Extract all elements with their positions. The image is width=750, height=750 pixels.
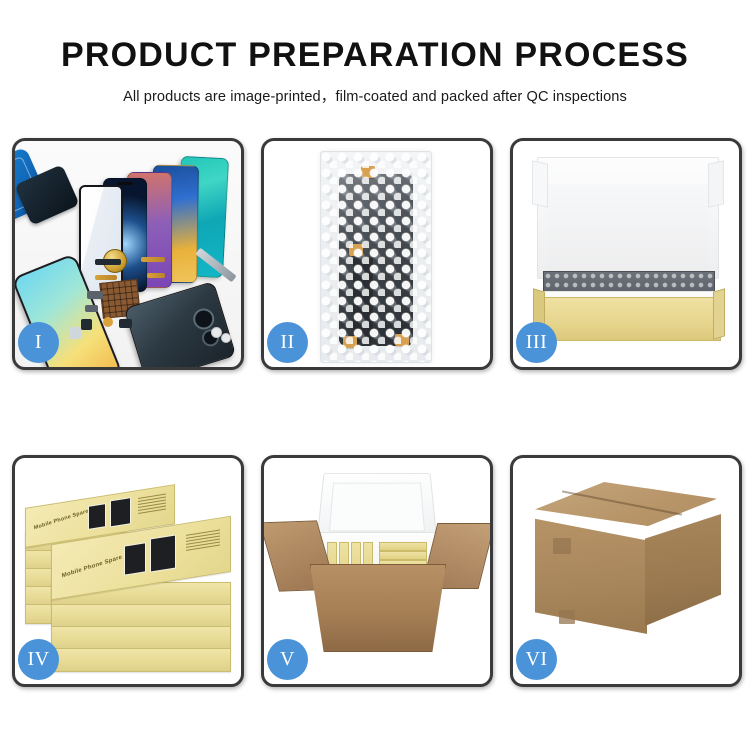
process-step-4: Mobile Phone Spare Parts Mobile Phone Sp…	[12, 455, 244, 687]
part-ribbon-icon	[95, 275, 117, 280]
step-badge-5: V	[267, 639, 308, 680]
carton-side-face-icon	[645, 514, 721, 626]
step-badge-3: III	[516, 322, 557, 363]
page-title: PRODUCT PREPARATION PROCESS	[0, 38, 750, 74]
stacked-box-front-2	[51, 604, 231, 628]
part-speaker-icon	[103, 317, 113, 327]
page-header: PRODUCT PREPARATION PROCESS All products…	[0, 0, 750, 106]
process-step-5: V	[261, 455, 493, 687]
process-step-1: I	[12, 138, 244, 370]
bubble-texture-highlight	[321, 152, 431, 362]
box-text-lines-rear	[138, 494, 166, 516]
process-step-3: III	[510, 138, 742, 370]
box-text-lines-front	[186, 529, 220, 552]
box-screen-print-rear-2	[110, 497, 131, 527]
part-button-icon	[81, 319, 92, 330]
phone-back-housing-icon	[124, 281, 237, 367]
carton-body-icon	[310, 564, 446, 652]
stacked-box-front-4	[51, 648, 231, 672]
stacked-box-front-3	[51, 626, 231, 650]
carton-tape-mark-upper-icon	[553, 538, 571, 554]
part-sim-card-icon	[69, 327, 81, 339]
step-badge-6: VI	[516, 639, 557, 680]
process-step-grid: I II	[12, 138, 738, 687]
carton-tape-mark-lower-icon	[559, 610, 575, 624]
part-metal-bracket-icon	[87, 291, 103, 299]
part-flex-cable-icon	[141, 257, 165, 262]
part-metal-bracket-2-icon	[85, 305, 98, 312]
step-badge-2: II	[267, 322, 308, 363]
process-step-2: II	[261, 138, 493, 370]
box-base-icon	[537, 297, 721, 341]
inner-box-h-2	[379, 551, 427, 560]
part-flex-cable-2-icon	[147, 273, 165, 278]
carton-front-face-icon	[535, 514, 647, 634]
process-step-6: VI	[510, 455, 742, 687]
part-connector-icon	[95, 259, 121, 265]
box-screen-print-rear-1	[88, 503, 106, 530]
step-badge-1: I	[18, 322, 59, 363]
box-lid-inner-icon	[548, 184, 708, 278]
bubble-wrap-bag-icon	[320, 151, 432, 363]
box-stack-group: Mobile Phone Spare Parts Mobile Phone Sp…	[21, 474, 235, 670]
page-subtitle: All products are image-printed，film-coat…	[0, 85, 750, 106]
inner-box-h-1	[379, 542, 427, 551]
box-lid-icon	[537, 157, 719, 279]
box-screen-print-front-1	[124, 542, 146, 575]
step-badge-4: IV	[18, 639, 59, 680]
box-screen-print-front-2	[150, 534, 176, 572]
product-preparation-infographic: PRODUCT PREPARATION PROCESS All products…	[0, 0, 750, 750]
part-sim-tray-icon	[119, 319, 132, 328]
part-white-bead-2-icon	[221, 333, 231, 343]
